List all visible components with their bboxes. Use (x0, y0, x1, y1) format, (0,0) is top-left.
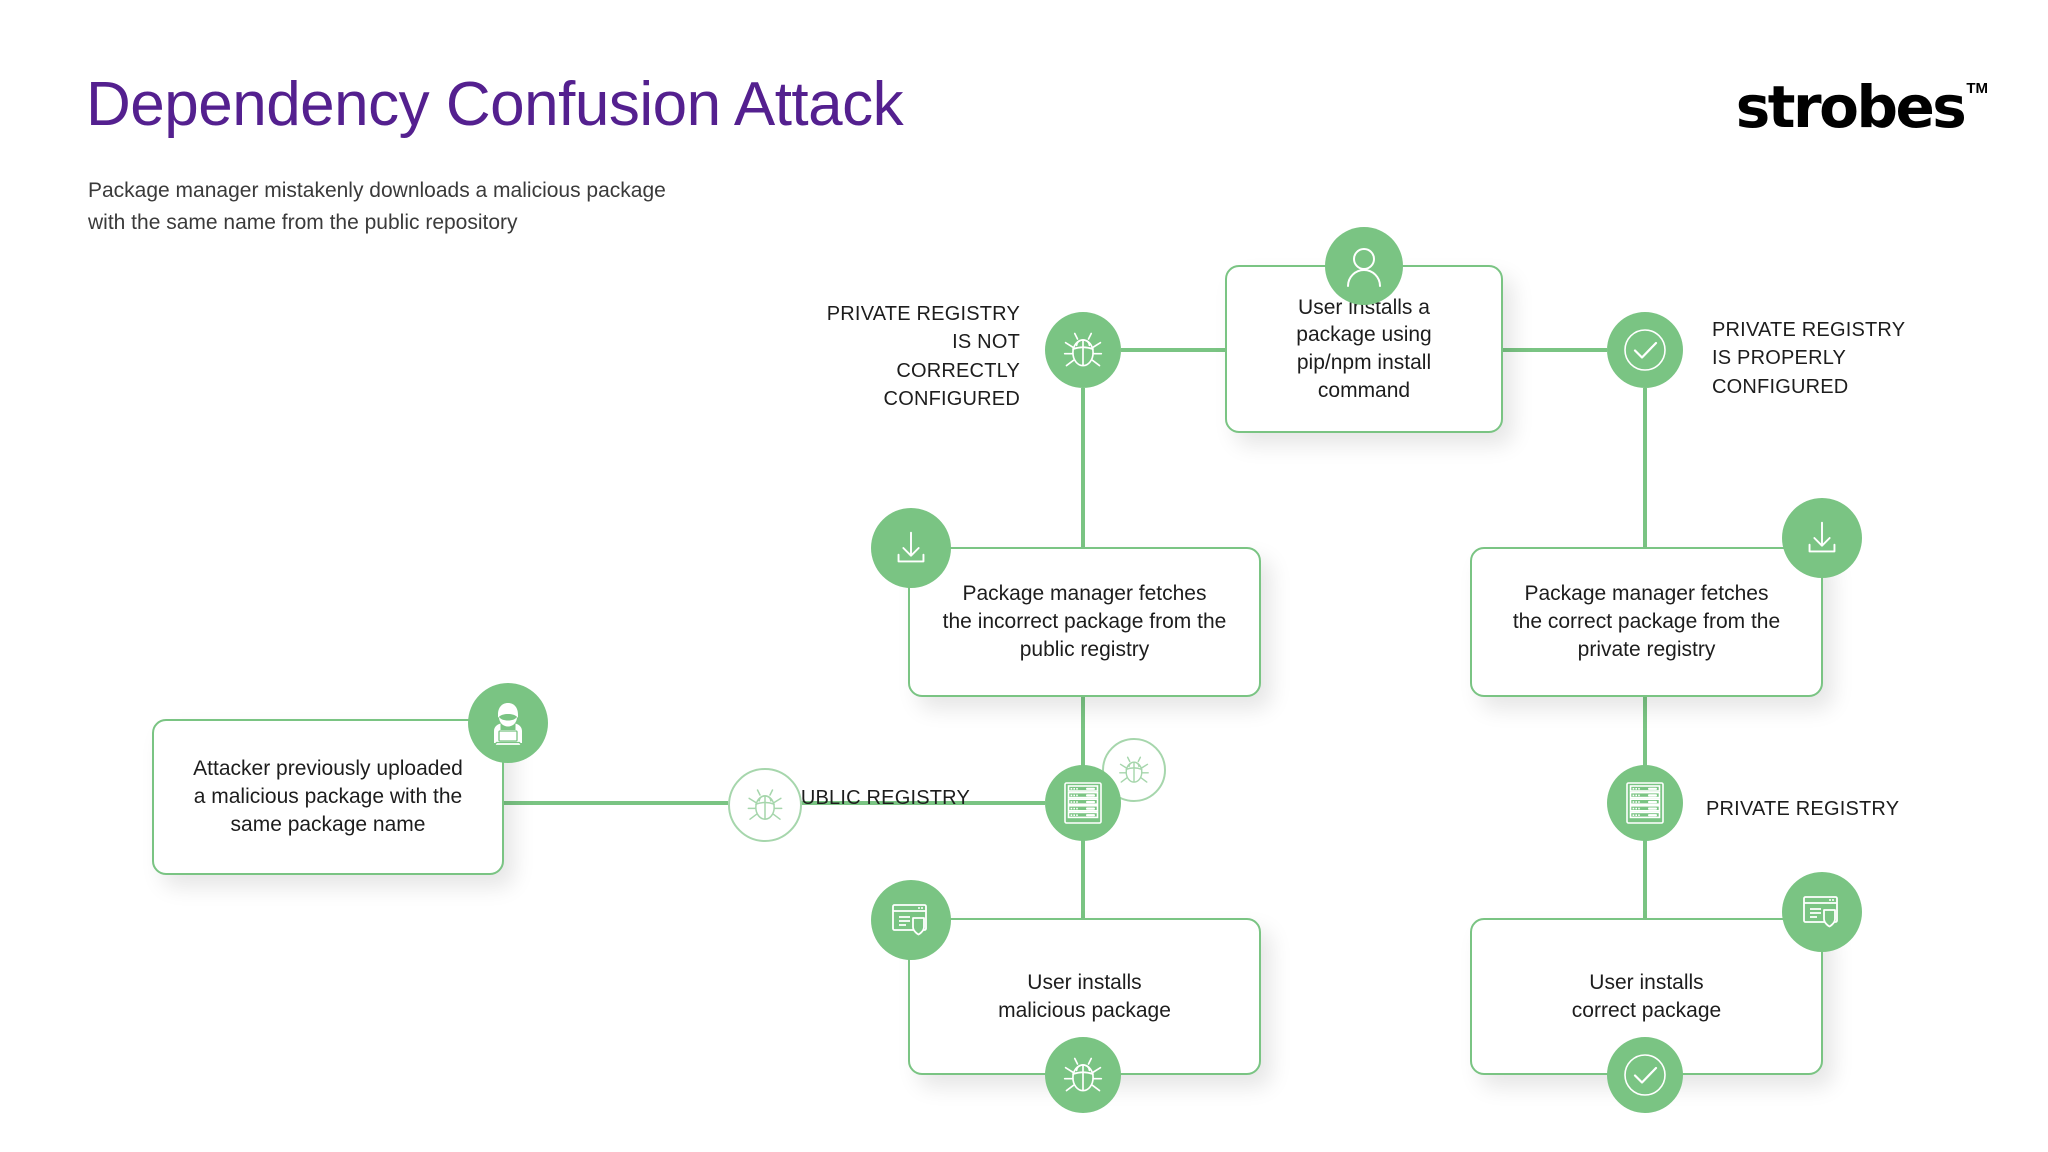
label-private-registry: PRIVATE REGISTRY (1706, 795, 2006, 823)
page-subtitle: Package manager mistakenly downloads a m… (88, 175, 666, 238)
person-icon (1325, 227, 1403, 305)
browser-shield-icon (1782, 872, 1862, 952)
node-label: User installs correct package (1558, 969, 1735, 1024)
browser-shield-icon (871, 880, 951, 960)
check-circle-icon (1607, 1037, 1683, 1113)
node-label: Package manager fetches the correct pack… (1499, 580, 1794, 663)
node-attacker-upload[interactable]: Attacker previously uploaded a malicious… (152, 719, 504, 875)
strobes-logo: strobes TM (1736, 78, 1988, 140)
hacker-icon (468, 683, 548, 763)
bug-icon (1045, 312, 1121, 388)
label-private-configured: PRIVATE REGISTRY IS PROPERLY CONFIGURED (1712, 316, 1992, 401)
node-label: Package manager fetches the incorrect pa… (929, 580, 1241, 663)
diagram-canvas: Dependency Confusion Attack Package mana… (0, 0, 2048, 1152)
download-icon (871, 508, 951, 588)
server-rack-icon (1607, 765, 1683, 841)
label-private-not-configured: PRIVATE REGISTRY IS NOT CORRECTLY CONFIG… (760, 300, 1020, 414)
logo-wordmark: strobes (1736, 78, 1965, 136)
page-title: Dependency Confusion Attack (86, 72, 903, 137)
node-label: User installs a package using pip/npm in… (1282, 294, 1445, 405)
check-circle-icon (1607, 312, 1683, 388)
bug-icon (1045, 1037, 1121, 1113)
bug-icon (728, 768, 802, 842)
node-fetch-incorrect[interactable]: Package manager fetches the incorrect pa… (908, 547, 1261, 697)
node-fetch-correct[interactable]: Package manager fetches the correct pack… (1470, 547, 1823, 697)
download-icon (1782, 498, 1862, 578)
server-rack-icon (1045, 765, 1121, 841)
node-label: Attacker previously uploaded a malicious… (179, 755, 477, 838)
trademark-symbol: TM (1966, 80, 1988, 97)
node-label: User installs malicious package (984, 969, 1185, 1024)
